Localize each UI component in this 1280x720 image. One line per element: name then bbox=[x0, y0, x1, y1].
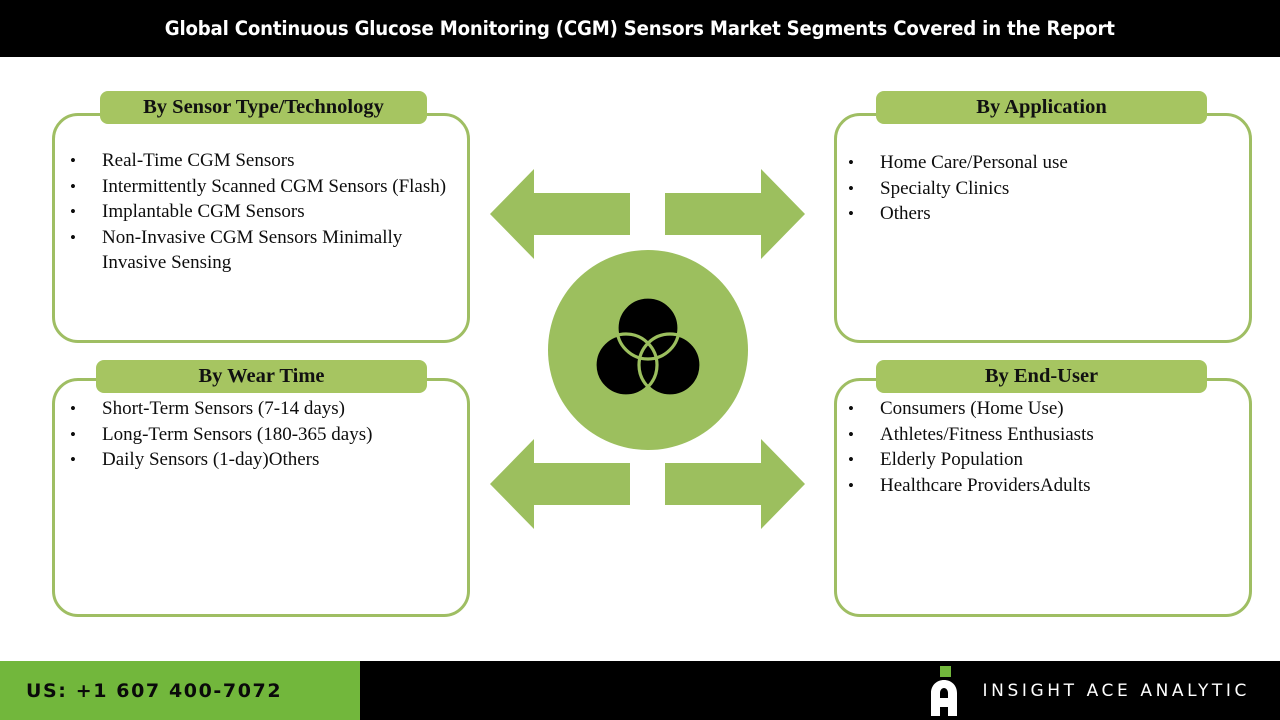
list-item-label: Long-Term Sensors (180-365 days) bbox=[102, 422, 462, 448]
bullet-icon: • bbox=[848, 150, 880, 176]
list-item-label: Others bbox=[880, 201, 1240, 227]
double-headed-arrow-top bbox=[490, 169, 805, 290]
card-header-application: By Application bbox=[876, 91, 1207, 124]
list-item-label: Short-Term Sensors (7-14 days) bbox=[102, 396, 462, 422]
card-title-wear-time: By Wear Time bbox=[198, 365, 324, 388]
list-item: •Short-Term Sensors (7-14 days) bbox=[70, 396, 462, 422]
card-header-sensor-type: By Sensor Type/Technology bbox=[100, 91, 427, 124]
list-item-label: Non-Invasive CGM Sensors Minimally Invas… bbox=[102, 225, 462, 276]
bullet-icon: • bbox=[848, 201, 880, 227]
bullet-icon: • bbox=[848, 447, 880, 473]
list-item: •Elderly Population bbox=[848, 447, 1240, 473]
list-item: •Specialty Clinics bbox=[848, 176, 1240, 202]
list-item: •Non-Invasive CGM Sensors Minimally Inva… bbox=[70, 225, 462, 276]
card-header-wear-time: By Wear Time bbox=[96, 360, 427, 393]
bullet-icon: • bbox=[70, 422, 102, 448]
list-item: •Others bbox=[848, 201, 1240, 227]
list-item-label: Real-Time CGM Sensors bbox=[102, 148, 462, 174]
bullet-icon: • bbox=[70, 199, 102, 225]
footer-brand-name: INSIGHT ACE ANALYTIC bbox=[983, 681, 1250, 701]
bullet-icon: • bbox=[848, 422, 880, 448]
page-title: Global Continuous Glucose Monitoring (CG… bbox=[165, 17, 1115, 40]
card-title-sensor-type: By Sensor Type/Technology bbox=[143, 96, 384, 119]
list-item: •Intermittently Scanned CGM Sensors (Fla… bbox=[70, 174, 462, 200]
title-bar: Global Continuous Glucose Monitoring (CG… bbox=[0, 0, 1280, 57]
insight-ace-a-logo bbox=[923, 666, 967, 716]
list-item: •Home Care/Personal use bbox=[848, 150, 1240, 176]
list-item-label: Consumers (Home Use) bbox=[880, 396, 1240, 422]
card-title-end-user: By End-User bbox=[985, 365, 1098, 388]
bullet-icon: • bbox=[70, 447, 102, 473]
bullet-icon: • bbox=[70, 174, 102, 200]
list-item-label: Specialty Clinics bbox=[880, 176, 1240, 202]
list-item-label: Implantable CGM Sensors bbox=[102, 199, 462, 225]
list-item-label: Athletes/Fitness Enthusiasts bbox=[880, 422, 1240, 448]
list-item-label: Home Care/Personal use bbox=[880, 150, 1240, 176]
list-item: •Long-Term Sensors (180-365 days) bbox=[70, 422, 462, 448]
bullet-icon: • bbox=[848, 176, 880, 202]
list-item: •Implantable CGM Sensors bbox=[70, 199, 462, 225]
list-wear-time: •Short-Term Sensors (7-14 days)•Long-Ter… bbox=[70, 396, 462, 473]
list-item: •Real-Time CGM Sensors bbox=[70, 148, 462, 174]
list-item: •Daily Sensors (1-day)Others bbox=[70, 447, 462, 473]
footer-phone-band: US: +1 607 400-7072 bbox=[0, 661, 360, 720]
list-application: •Home Care/Personal use•Specialty Clinic… bbox=[848, 150, 1240, 227]
list-end-user: •Consumers (Home Use)•Athletes/Fitness E… bbox=[848, 396, 1240, 498]
list-item-label: Healthcare ProvidersAdults bbox=[880, 473, 1240, 499]
double-headed-arrow-bottom bbox=[490, 408, 805, 529]
list-item: •Healthcare ProvidersAdults bbox=[848, 473, 1240, 499]
list-item-label: Daily Sensors (1-day)Others bbox=[102, 447, 462, 473]
bullet-icon: • bbox=[848, 396, 880, 422]
card-title-application: By Application bbox=[976, 96, 1106, 119]
bullet-icon: • bbox=[848, 473, 880, 499]
list-item-label: Elderly Population bbox=[880, 447, 1240, 473]
list-item: •Consumers (Home Use) bbox=[848, 396, 1240, 422]
footer-phone-number: US: +1 607 400-7072 bbox=[26, 680, 282, 702]
card-header-end-user: By End-User bbox=[876, 360, 1207, 393]
footer-bar: US: +1 607 400-7072 INSIGHT ACE ANALYTIC bbox=[0, 661, 1280, 720]
bullet-icon: • bbox=[70, 396, 102, 422]
bullet-icon: • bbox=[70, 148, 102, 174]
bullet-icon: • bbox=[70, 225, 102, 251]
footer-brand: INSIGHT ACE ANALYTIC bbox=[923, 661, 1250, 720]
list-item: •Athletes/Fitness Enthusiasts bbox=[848, 422, 1240, 448]
card-application bbox=[834, 113, 1252, 343]
list-item-label: Intermittently Scanned CGM Sensors (Flas… bbox=[102, 174, 462, 200]
list-sensor-type: •Real-Time CGM Sensors•Intermittently Sc… bbox=[70, 148, 462, 276]
center-graphic bbox=[480, 150, 820, 550]
